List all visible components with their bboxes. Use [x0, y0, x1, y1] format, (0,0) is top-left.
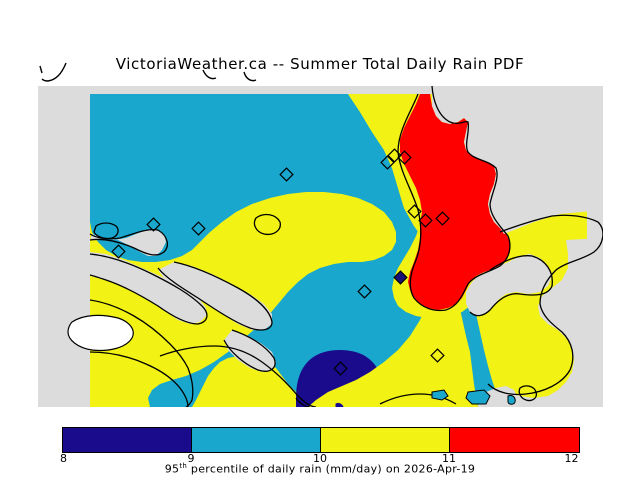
colorbar-segment-11-12 [449, 428, 579, 452]
coastline-sketch-top [40, 63, 66, 81]
caption-rest: percentile of daily rain (mm/day) on 202… [187, 463, 475, 476]
colorbar-caption: 95th percentile of daily rain (mm/day) o… [0, 462, 640, 476]
caption-prefix: 95 [165, 463, 180, 476]
rainfall-map [0, 0, 640, 480]
coastline-sketch-title-gap [203, 70, 256, 81]
caption-superscript: th [179, 462, 187, 470]
screenshot-root: VictoriaWeather.ca -- Summer Total Daily… [0, 0, 640, 480]
colorbar-segment-8-9 [63, 428, 192, 452]
colorbar-segment-9-10 [191, 428, 321, 452]
colorbar [62, 427, 580, 453]
colorbar-segment-10-11 [320, 428, 450, 452]
